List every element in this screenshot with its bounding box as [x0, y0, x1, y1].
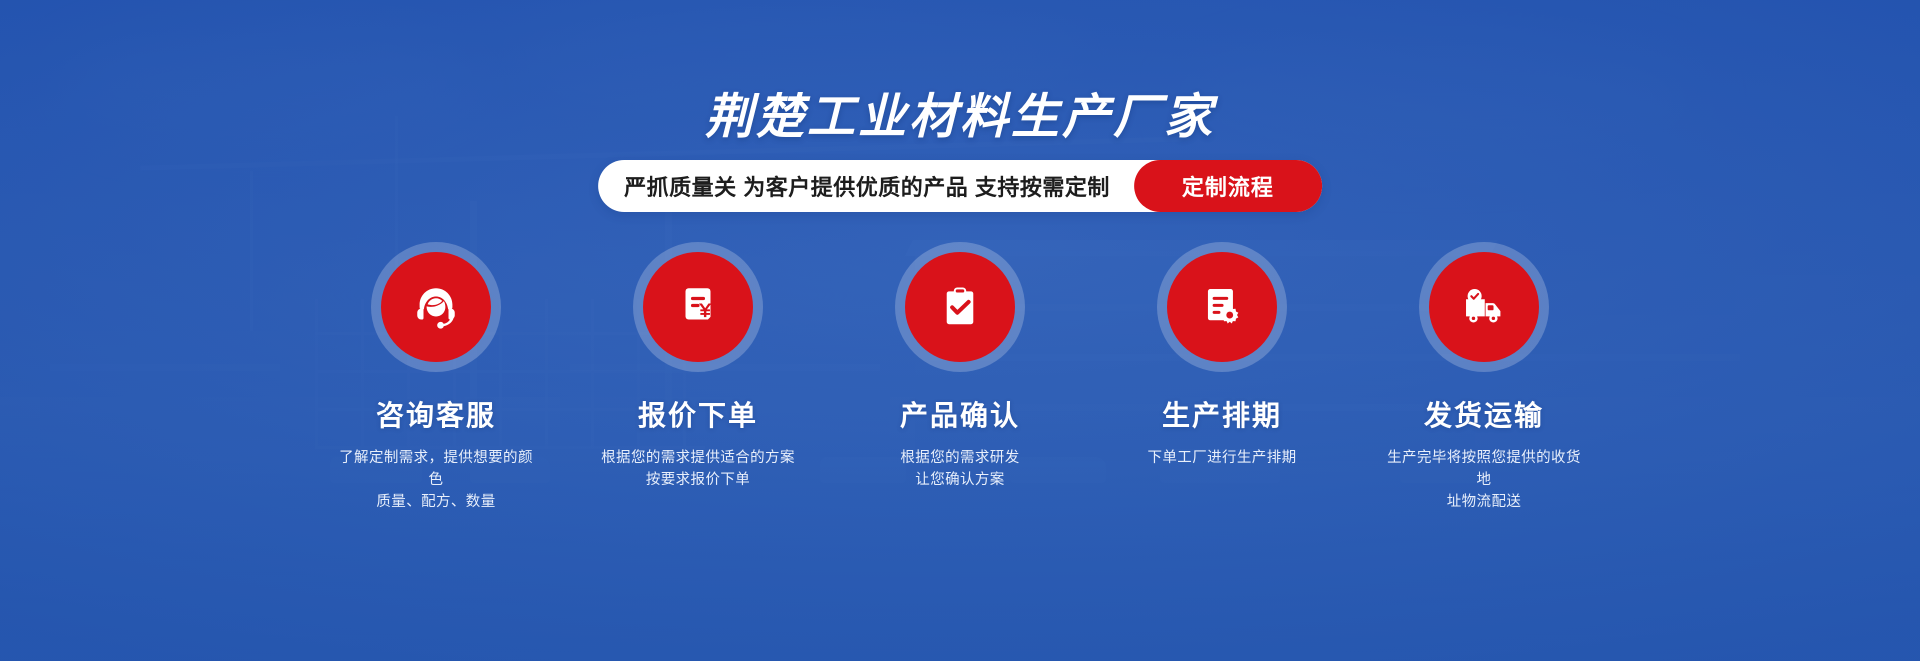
step-description: 了解定制需求，提供想要的颜色 质量、配方、数量 — [334, 448, 539, 513]
process-step[interactable]: 产品确认 根据您的需求研发 让您确认方案 — [855, 252, 1065, 492]
document-gear-icon — [1197, 282, 1247, 332]
process-steps-list: 咨询客服 了解定制需求，提供想要的颜色 质量、配方、数量 报价下单 — [0, 252, 1920, 513]
page-title: 荆楚工业材料生产厂家 — [0, 94, 1920, 142]
step-title: 咨询客服 — [376, 394, 496, 434]
step-icon-badge[interactable] — [643, 252, 753, 362]
step-description: 生产完毕将按照您提供的收货地 址物流配送 — [1382, 448, 1587, 513]
step-title: 生产排期 — [1162, 394, 1282, 434]
process-step[interactable]: 发货运输 生产完毕将按照您提供的收货地 址物流配送 — [1379, 252, 1589, 513]
process-step[interactable]: 咨询客服 了解定制需求，提供想要的颜色 质量、配方、数量 — [331, 252, 541, 513]
step-description: 下单工厂进行生产排期 — [1120, 448, 1325, 470]
invoice-yuan-icon — [673, 282, 723, 332]
clipboard-check-icon — [935, 282, 985, 332]
step-description: 根据您的需求提供适合的方案 按要求报价下单 — [596, 448, 801, 492]
step-title: 报价下单 — [638, 394, 758, 434]
delivery-truck-check-icon — [1459, 282, 1509, 332]
banner-stage: 荆楚工业材料生产厂家 严抓质量关 为客户提供优质的产品 支持按需定制 定制流程 — [0, 0, 1920, 661]
step-icon-badge[interactable] — [1429, 252, 1539, 362]
step-title: 产品确认 — [900, 394, 1020, 434]
process-step[interactable]: 生产排期 下单工厂进行生产排期 — [1117, 252, 1327, 470]
step-icon-badge[interactable] — [381, 252, 491, 362]
custom-process-button[interactable]: 定制流程 — [1134, 160, 1322, 212]
promo-bar-text: 严抓质量关 为客户提供优质的产品 支持按需定制 — [624, 170, 1134, 202]
process-step[interactable]: 报价下单 根据您的需求提供适合的方案 按要求报价下单 — [593, 252, 803, 492]
headset-support-icon — [411, 282, 461, 332]
step-icon-badge[interactable] — [905, 252, 1015, 362]
step-description: 根据您的需求研发 让您确认方案 — [858, 448, 1063, 492]
promo-bar: 严抓质量关 为客户提供优质的产品 支持按需定制 定制流程 — [598, 160, 1322, 212]
step-title: 发货运输 — [1424, 394, 1544, 434]
step-icon-badge[interactable] — [1167, 252, 1277, 362]
banner-content: 荆楚工业材料生产厂家 严抓质量关 为客户提供优质的产品 支持按需定制 定制流程 — [0, 0, 1920, 661]
